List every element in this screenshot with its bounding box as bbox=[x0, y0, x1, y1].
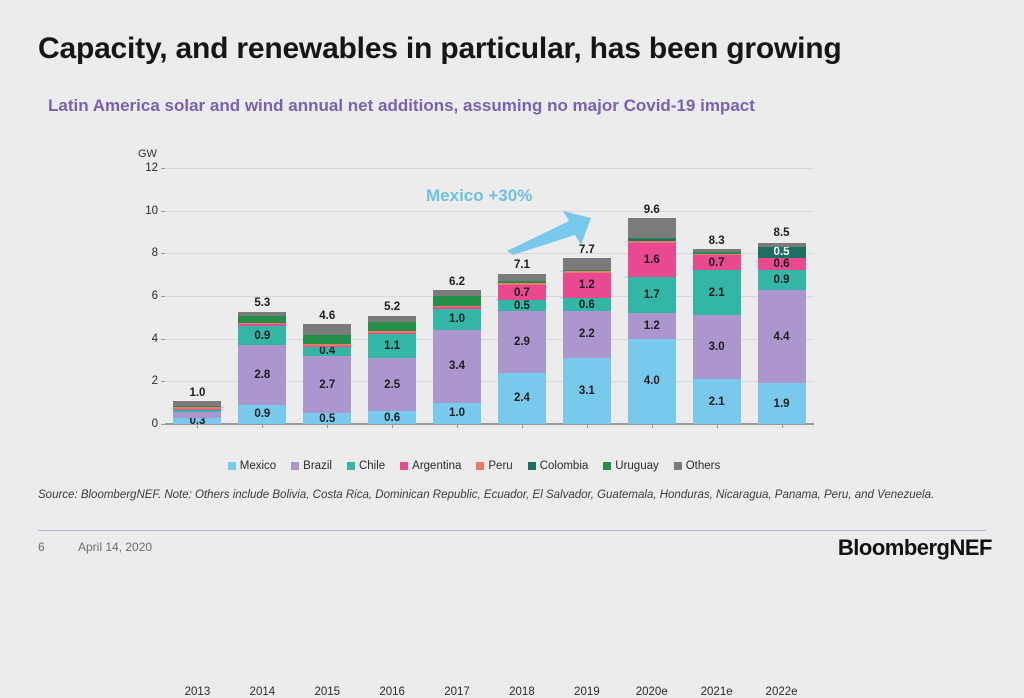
bar-stack: 1.61.71.24.0 bbox=[628, 218, 676, 424]
segment-value-label: 0.5 bbox=[758, 247, 806, 258]
bar-segment-colombia[interactable]: 0.5 bbox=[758, 247, 806, 258]
segment-value-label: 2.8 bbox=[238, 369, 286, 381]
bar-segment-brazil[interactable]: 4.4 bbox=[758, 290, 806, 384]
legend-item-chile[interactable]: Chile bbox=[347, 460, 385, 472]
segment-value-label: 2.9 bbox=[498, 336, 546, 348]
segment-value-label: 1.6 bbox=[628, 254, 676, 266]
footer-divider bbox=[38, 530, 986, 531]
x-axis-tick-label: 2013 bbox=[168, 686, 226, 698]
legend-swatch-icon bbox=[476, 462, 484, 470]
legend-swatch-icon bbox=[291, 462, 299, 470]
bar-segment-brazil[interactable]: 1.2 bbox=[628, 313, 676, 339]
x-axis-tick-mark bbox=[587, 424, 588, 428]
bar-segment-chile[interactable]: 1.7 bbox=[628, 277, 676, 313]
x-axis-tick-label: 2019 bbox=[558, 686, 616, 698]
legend-item-argentina[interactable]: Argentina bbox=[400, 460, 461, 472]
legend-item-peru[interactable]: Peru bbox=[476, 460, 512, 472]
x-axis-tick-label: 2021e bbox=[688, 686, 746, 698]
x-axis-tick-label: 2020e bbox=[623, 686, 681, 698]
bar-total-label: 4.6 bbox=[299, 310, 355, 322]
segment-value-label: 1.0 bbox=[433, 313, 481, 325]
bar-segment-chile[interactable]: 0.6 bbox=[563, 298, 611, 311]
legend-label: Argentina bbox=[412, 460, 461, 472]
x-axis-tick-mark bbox=[522, 424, 523, 428]
bar-segment-others[interactable] bbox=[498, 274, 546, 281]
bar-segment-argentina[interactable]: 1.2 bbox=[563, 273, 611, 299]
legend-swatch-icon bbox=[528, 462, 536, 470]
legend-label: Peru bbox=[488, 460, 512, 472]
bar-segment-uruguay[interactable] bbox=[368, 322, 416, 331]
segment-value-label: 0.6 bbox=[563, 299, 611, 311]
segment-value-label: 0.4 bbox=[303, 347, 351, 356]
bar-segment-brazil[interactable]: 2.9 bbox=[498, 311, 546, 373]
bar-segment-mexico[interactable]: 1.0 bbox=[433, 403, 481, 424]
bar-segment-others[interactable] bbox=[368, 316, 416, 323]
bar-segment-argentina[interactable]: 0.7 bbox=[498, 285, 546, 300]
x-axis-tick-label: 2016 bbox=[363, 686, 421, 698]
segment-value-label: 2.7 bbox=[303, 379, 351, 391]
y-axis-tick-label: 8 bbox=[152, 247, 158, 259]
bar-segment-uruguay[interactable] bbox=[303, 335, 351, 344]
segment-value-label: 3.4 bbox=[433, 360, 481, 372]
segment-value-label: 2.4 bbox=[498, 392, 546, 404]
bar-segment-brazil[interactable]: 3.4 bbox=[433, 330, 481, 403]
legend-item-others[interactable]: Others bbox=[674, 460, 721, 472]
bar-segment-chile[interactable]: 0.4 bbox=[303, 347, 351, 356]
bar-stack: 1.12.50.6 bbox=[368, 316, 416, 424]
x-axis-tick-mark bbox=[197, 424, 198, 428]
bar-total-label: 6.2 bbox=[429, 276, 485, 288]
segment-value-label: 0.7 bbox=[498, 287, 546, 299]
page-title: Capacity, and renewables in particular, … bbox=[38, 30, 998, 68]
bar-series-container: 0.31.020130.92.80.95.320140.42.70.54.620… bbox=[165, 168, 814, 424]
x-axis-tick-label: 2017 bbox=[428, 686, 486, 698]
bar-stack: 0.3 bbox=[173, 401, 221, 424]
page-number: 6 bbox=[38, 540, 45, 554]
bar-segment-others[interactable] bbox=[628, 218, 676, 238]
bar-total-label: 5.2 bbox=[364, 301, 420, 313]
bar-segment-mexico[interactable]: 2.1 bbox=[693, 379, 741, 424]
segment-value-label: 2.1 bbox=[693, 287, 741, 299]
bar-total-label: 8.5 bbox=[754, 227, 810, 239]
segment-value-label: 0.9 bbox=[238, 330, 286, 342]
footer-date: April 14, 2020 bbox=[78, 540, 152, 554]
x-axis-tick-label: 2022e bbox=[753, 686, 811, 698]
x-axis-tick-mark bbox=[262, 424, 263, 428]
legend-label: Others bbox=[686, 460, 721, 472]
bar-stack: 0.92.80.9 bbox=[238, 312, 286, 424]
legend-swatch-icon bbox=[674, 462, 682, 470]
legend-swatch-icon bbox=[347, 462, 355, 470]
legend-item-mexico[interactable]: Mexico bbox=[228, 460, 276, 472]
segment-value-label: 1.2 bbox=[628, 320, 676, 332]
segment-value-label: 0.9 bbox=[758, 274, 806, 286]
bar-stack: 0.70.52.92.4 bbox=[498, 274, 546, 424]
x-axis-tick-mark bbox=[327, 424, 328, 428]
bar-segment-chile[interactable]: 0.9 bbox=[238, 326, 286, 345]
x-axis-tick-mark bbox=[392, 424, 393, 428]
segment-value-label: 1.0 bbox=[433, 407, 481, 419]
legend-item-uruguay[interactable]: Uruguay bbox=[603, 460, 658, 472]
segment-value-label: 4.4 bbox=[758, 331, 806, 343]
bar-segment-brazil[interactable]: 3.0 bbox=[693, 315, 741, 379]
bar-stack: 0.72.13.02.1 bbox=[693, 249, 741, 424]
bar-segment-argentina[interactable]: 1.6 bbox=[628, 243, 676, 277]
segment-value-label: 0.7 bbox=[693, 257, 741, 269]
x-axis-tick-mark bbox=[717, 424, 718, 428]
y-axis-tick-label: 6 bbox=[152, 290, 158, 302]
y-axis-unit-label: GW bbox=[138, 148, 157, 160]
bar-segment-mexico[interactable]: 2.4 bbox=[498, 373, 546, 424]
segment-value-label: 3.0 bbox=[693, 341, 741, 353]
segment-value-label: 4.0 bbox=[628, 375, 676, 387]
chart-legend: MexicoBrazilChileArgentinaPeruColombiaUr… bbox=[134, 460, 814, 472]
legend-label: Brazil bbox=[303, 460, 332, 472]
bar-segment-mexico[interactable]: 0.6 bbox=[368, 411, 416, 424]
y-axis-tick-label: 12 bbox=[145, 162, 158, 174]
bar-total-label: 8.3 bbox=[689, 235, 745, 247]
bar-segment-chile[interactable]: 2.1 bbox=[693, 270, 741, 315]
bar-segment-argentina[interactable]: 0.6 bbox=[758, 258, 806, 271]
x-axis-tick-mark bbox=[457, 424, 458, 428]
legend-label: Uruguay bbox=[615, 460, 658, 472]
bar-total-label: 7.1 bbox=[494, 259, 550, 271]
legend-swatch-icon bbox=[228, 462, 236, 470]
x-axis-tick-label: 2015 bbox=[298, 686, 356, 698]
bar-segment-mexico[interactable]: 3.1 bbox=[563, 358, 611, 424]
bar-segment-argentina[interactable]: 0.7 bbox=[693, 255, 741, 270]
bar-stack: 1.03.41.0 bbox=[433, 290, 481, 424]
y-axis-tick-label: 0 bbox=[152, 418, 158, 430]
annotation-arrow-icon bbox=[503, 205, 595, 255]
bar-total-label: 9.6 bbox=[624, 204, 680, 216]
segment-value-label: 1.7 bbox=[628, 289, 676, 301]
legend-item-colombia[interactable]: Colombia bbox=[528, 460, 589, 472]
bar-segment-mexico[interactable]: 1.9 bbox=[758, 383, 806, 424]
segment-value-label: 0.9 bbox=[238, 408, 286, 420]
segment-value-label: 2.5 bbox=[368, 379, 416, 391]
bar-stack: 1.20.62.23.1 bbox=[563, 258, 611, 424]
bar-segment-others[interactable] bbox=[303, 324, 351, 335]
legend-label: Chile bbox=[359, 460, 385, 472]
bar-segment-uruguay[interactable] bbox=[238, 316, 286, 323]
bar-segment-mexico[interactable]: 4.0 bbox=[628, 339, 676, 424]
bar-segment-brazil[interactable]: 2.5 bbox=[368, 358, 416, 411]
annotation-mexico-growth: Mexico +30% bbox=[426, 186, 532, 206]
y-axis-tick-mark bbox=[161, 424, 165, 425]
segment-value-label: 3.1 bbox=[563, 385, 611, 397]
legend-label: Mexico bbox=[240, 460, 276, 472]
y-axis-tick-label: 4 bbox=[152, 333, 158, 345]
y-axis-tick-label: 2 bbox=[152, 375, 158, 387]
segment-value-label: 2.1 bbox=[693, 396, 741, 408]
bar-total-label: 5.3 bbox=[234, 297, 290, 309]
bar-stack: 0.42.70.5 bbox=[303, 324, 351, 424]
x-axis-tick-label: 2018 bbox=[493, 686, 551, 698]
bar-segment-chile[interactable]: 0.9 bbox=[758, 270, 806, 289]
y-axis-tick-label: 10 bbox=[145, 205, 158, 217]
brand-logo: BloombergNEF bbox=[838, 535, 992, 561]
chart-subtitle: Latin America solar and wind annual net … bbox=[48, 93, 938, 118]
legend-swatch-icon bbox=[400, 462, 408, 470]
source-note: Source: BloombergNEF. Note: Others inclu… bbox=[38, 487, 993, 503]
segment-value-label: 1.2 bbox=[563, 279, 611, 291]
bar-segment-uruguay[interactable] bbox=[433, 296, 481, 305]
segment-value-label: 2.2 bbox=[563, 328, 611, 340]
segment-value-label: 0.5 bbox=[303, 413, 351, 424]
plot-area: 024681012 0.31.020130.92.80.95.320140.42… bbox=[165, 168, 814, 424]
bar-segment-mexico[interactable]: 0.9 bbox=[238, 405, 286, 424]
bar-segment-others[interactable] bbox=[563, 258, 611, 269]
segment-value-label: 0.6 bbox=[758, 258, 806, 270]
x-axis-tick-mark bbox=[782, 424, 783, 428]
x-axis-tick-mark bbox=[652, 424, 653, 428]
bar-segment-brazil[interactable]: 2.8 bbox=[238, 345, 286, 405]
legend-swatch-icon bbox=[603, 462, 611, 470]
bar-segment-brazil[interactable]: 2.2 bbox=[563, 311, 611, 358]
bar-total-label: 1.0 bbox=[169, 387, 225, 399]
slide: Capacity, and renewables in particular, … bbox=[0, 0, 1024, 584]
legend-label: Colombia bbox=[540, 460, 589, 472]
bar-stack: 0.50.60.94.41.9 bbox=[758, 243, 806, 424]
bar-segment-chile[interactable]: 1.1 bbox=[368, 334, 416, 357]
bar-segment-mexico[interactable]: 0.5 bbox=[303, 413, 351, 424]
segment-value-label: 1.1 bbox=[368, 340, 416, 352]
bar-segment-chile[interactable]: 1.0 bbox=[433, 309, 481, 330]
segment-value-label: 0.6 bbox=[368, 412, 416, 424]
bar-segment-brazil[interactable]: 2.7 bbox=[303, 356, 351, 414]
segment-value-label: 0.5 bbox=[498, 300, 546, 311]
x-axis-tick-label: 2014 bbox=[233, 686, 291, 698]
segment-value-label: 1.9 bbox=[758, 398, 806, 410]
bar-segment-chile[interactable]: 0.5 bbox=[498, 300, 546, 311]
legend-item-brazil[interactable]: Brazil bbox=[291, 460, 332, 472]
